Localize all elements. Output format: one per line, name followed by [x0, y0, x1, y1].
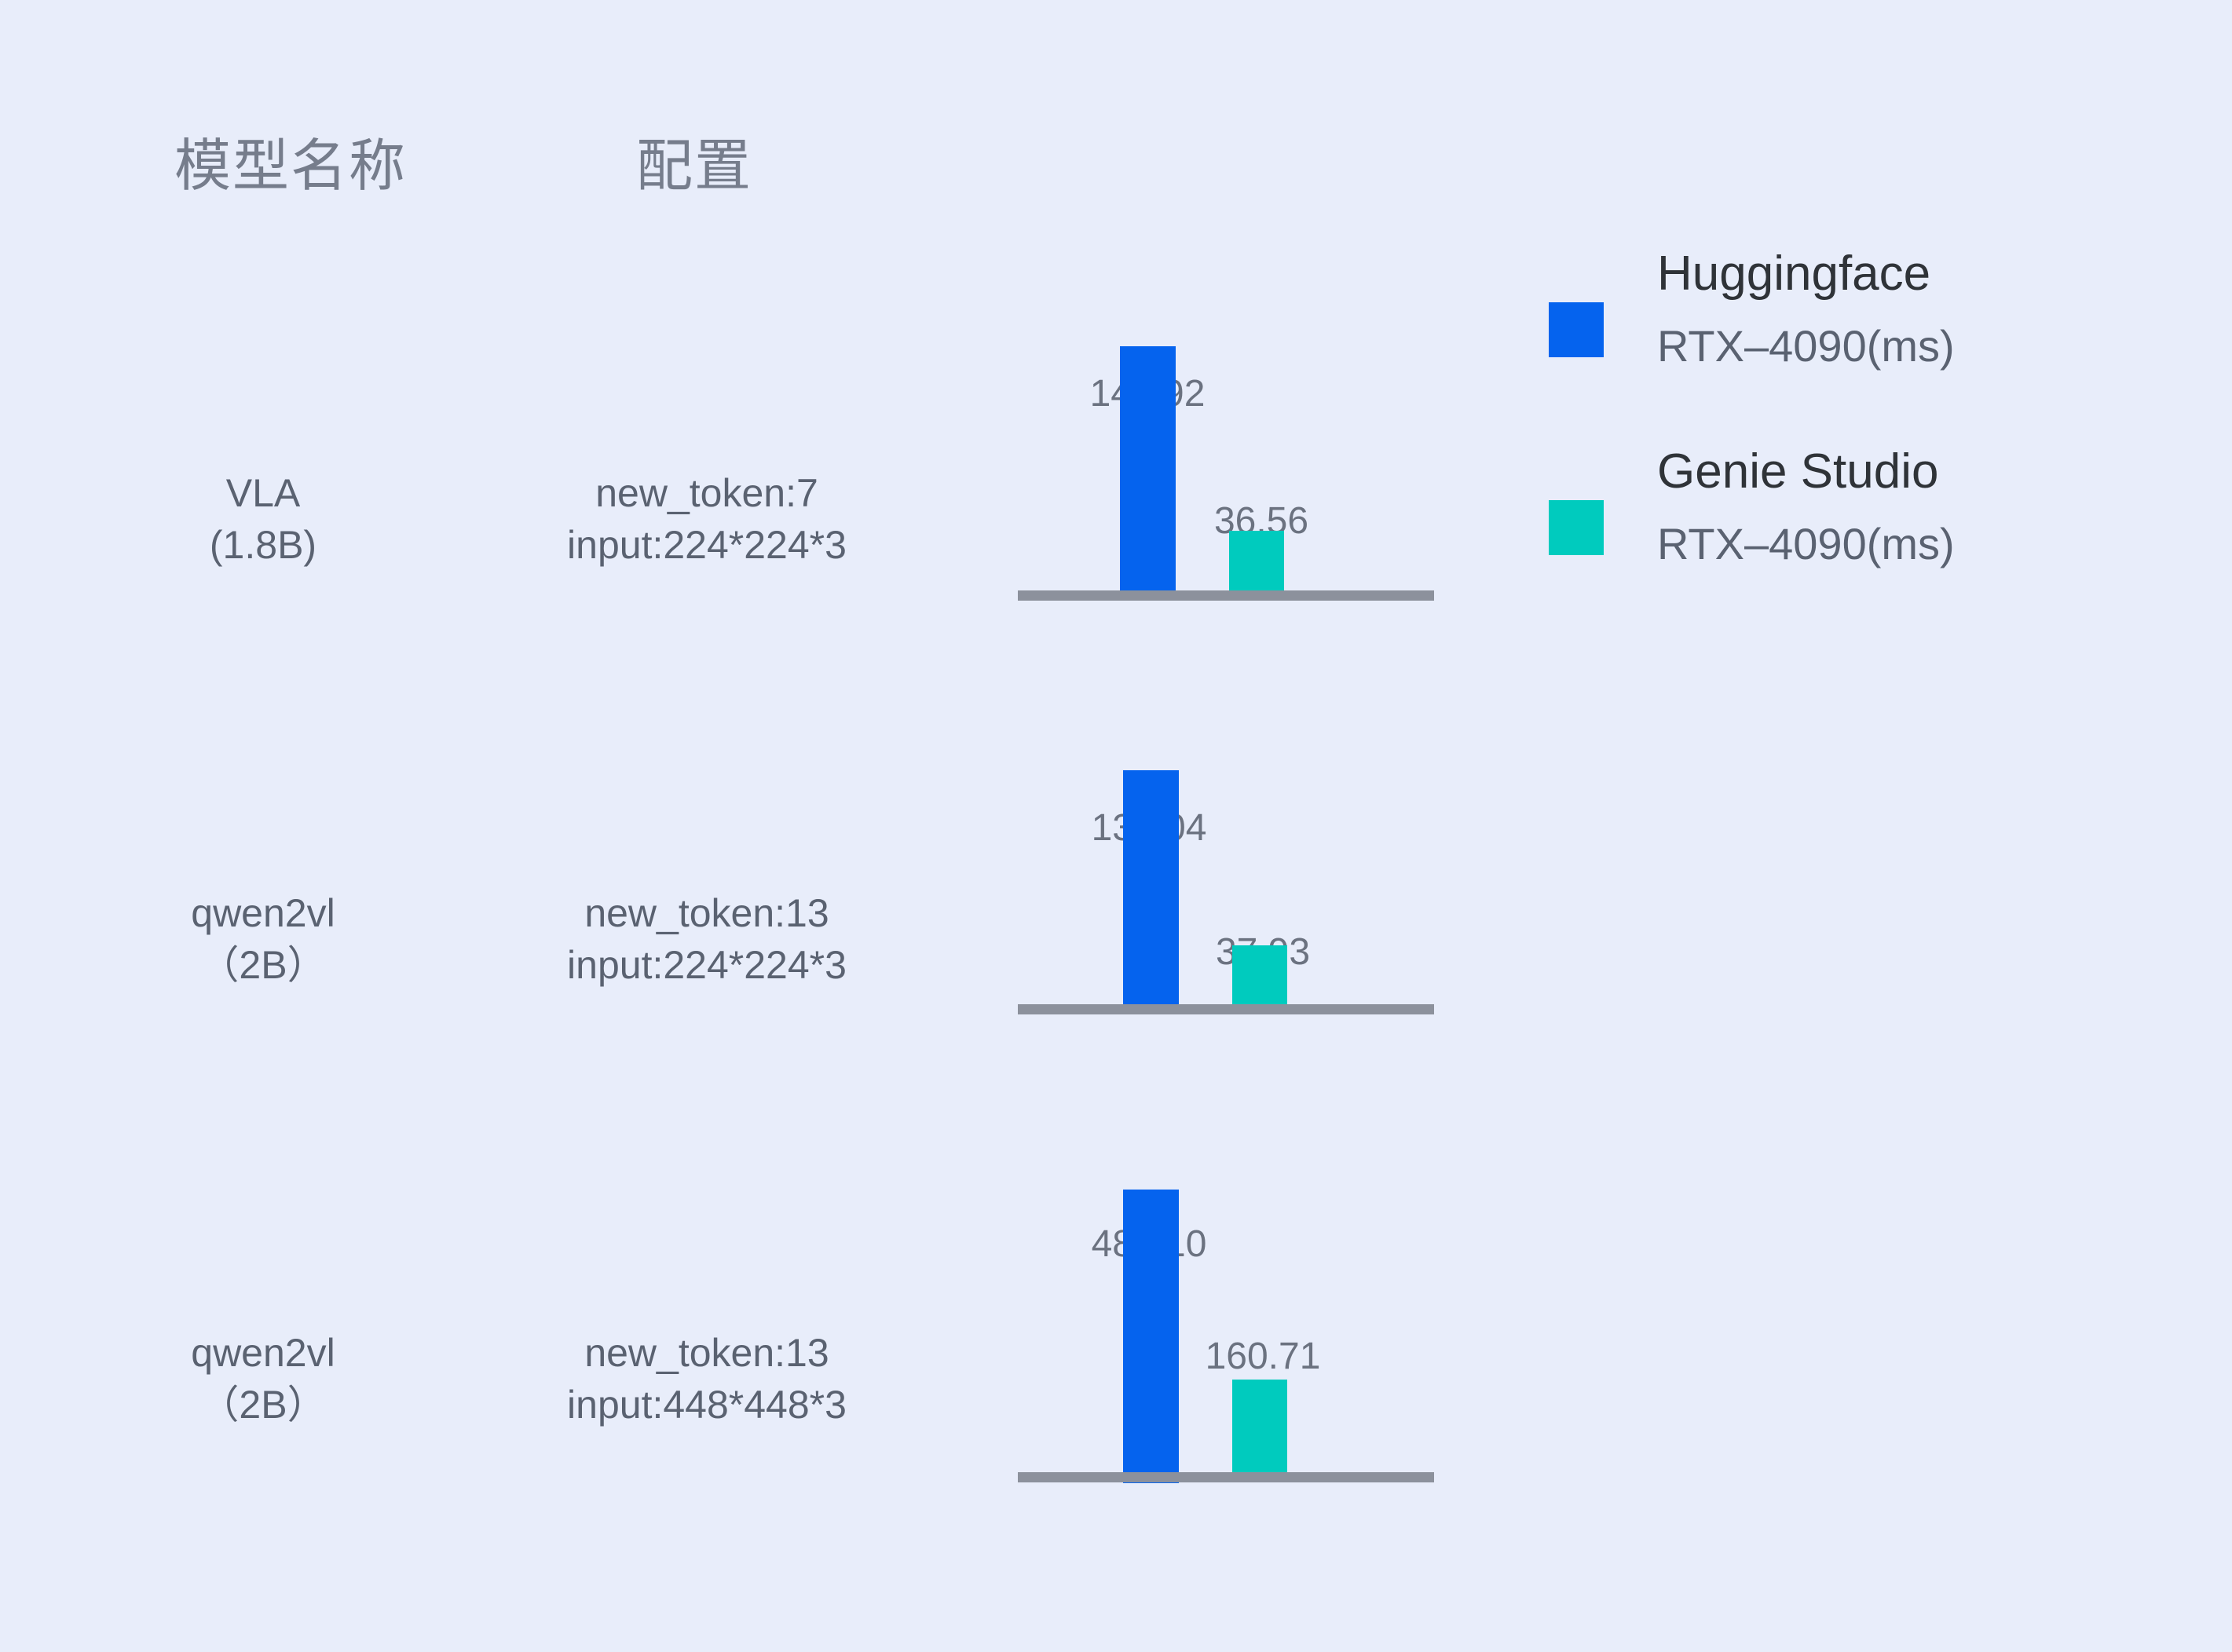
legend-series-device: RTX–4090(ms)	[1657, 320, 1955, 371]
legend-series-device: RTX–4090(ms)	[1657, 518, 1955, 569]
row-baseline	[1018, 1472, 1434, 1482]
chart-row: qwen2vl （2B） new_token:13 input:448*448*…	[0, 1084, 2232, 1492]
bar-huggingface	[1120, 346, 1176, 590]
row-plot-area: 131.04 37.93	[1018, 769, 1434, 1014]
row-plot-area: 488.10 160.71	[1018, 1190, 1434, 1484]
bar-genie-studio	[1232, 1380, 1287, 1474]
bar-genie-studio	[1232, 945, 1287, 1004]
row-config-label: new_token:7 input:224*224*3	[479, 467, 935, 571]
row-config-label: new_token:13 input:224*224*3	[479, 887, 935, 991]
column-header-config: 配置	[636, 119, 752, 202]
legend-series-name: Genie Studio	[1657, 444, 1938, 499]
legend-swatch-icon	[1549, 302, 1604, 357]
bar-genie-studio	[1229, 531, 1284, 590]
row-model-label: VLA (1.8B)	[134, 467, 393, 571]
legend-series-name: Huggingface	[1657, 246, 1930, 302]
bar-value-genie-studio: 160.71	[1180, 1335, 1345, 1378]
row-model-label: qwen2vl （2B）	[134, 887, 393, 991]
bar-huggingface	[1123, 770, 1179, 1004]
row-plot-area: 141.92 36.56	[1018, 345, 1434, 601]
row-baseline	[1018, 1004, 1434, 1014]
row-model-label: qwen2vl （2B）	[134, 1327, 393, 1431]
legend-swatch-icon	[1549, 500, 1604, 555]
chart-row: qwen2vl （2B） new_token:13 input:224*224*…	[0, 660, 2232, 1052]
column-header-model-name: 模型名称	[174, 119, 407, 202]
bar-huggingface	[1123, 1190, 1179, 1483]
row-config-label: new_token:13 input:448*448*3	[479, 1327, 935, 1431]
benchmark-chart: 模型名称 配置 VLA (1.8B) new_token:7 input:224…	[0, 0, 2232, 1652]
row-baseline	[1018, 590, 1434, 601]
